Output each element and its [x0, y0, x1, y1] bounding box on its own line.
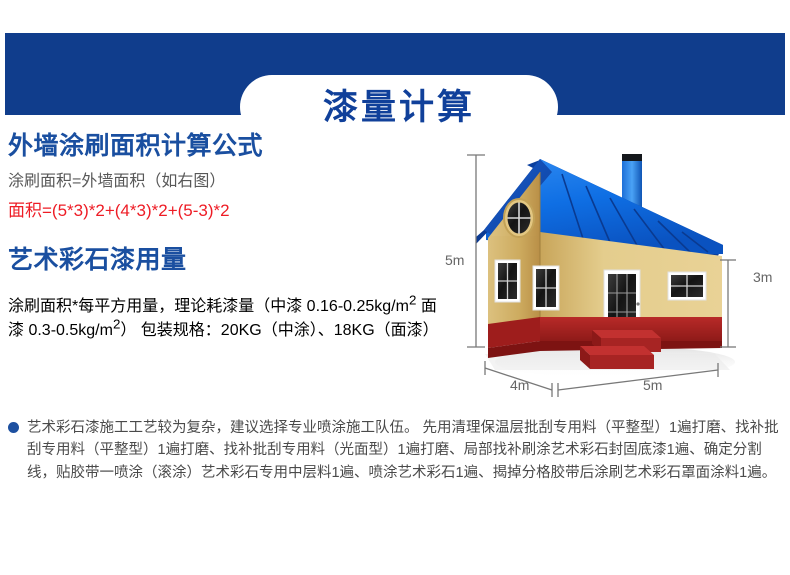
dimension-label-height-right: 3m — [753, 269, 772, 285]
side-window-1 — [495, 260, 520, 302]
usage-bullet-list: 涂刷面积*每平方用量，理论耗漆量（中漆 0.16-0.25kg/m2 面漆 0.… — [8, 292, 448, 340]
front-window — [668, 272, 706, 300]
side-window-2 — [533, 266, 559, 310]
list-item: 艺术彩石漆施工工艺较为复杂，建议选择专业喷涂施工队伍。 先用清理保温层批刮专用料… — [8, 417, 780, 484]
entry-steps — [580, 330, 661, 369]
door-knob-icon — [636, 302, 639, 305]
header-title-pill: 漆量计算 — [240, 75, 558, 139]
page-title: 漆量计算 — [323, 90, 475, 125]
dimension-label-width-side: 4m — [510, 377, 529, 393]
house-illustration: 5m 3m 4m 5m — [440, 132, 790, 412]
process-note: 艺术彩石漆施工工艺较为复杂，建议选择专业喷涂施工队伍。 先用清理保温层批刮专用料… — [8, 417, 780, 498]
formula-section-heading: 外墙涂刷面积计算公式 — [8, 133, 448, 161]
header-banner: 漆量计算 — [5, 33, 785, 115]
usage-section-heading: 艺术彩石漆用量 — [8, 247, 448, 275]
area-formula: 面积=(5*3)*2+(4*3)*2+(5-3)*2 — [8, 202, 448, 221]
dimension-label-height-left: 5m — [445, 252, 464, 268]
formula-subtitle: 涂刷面积=外墙面积（如右图） — [8, 173, 448, 191]
house-diagram-svg — [440, 132, 790, 412]
content-column: 外墙涂刷面积计算公式 涂刷面积=外墙面积（如右图） 面积=(5*3)*2+(4*… — [8, 133, 448, 340]
dimension-label-width-front: 5m — [643, 377, 662, 393]
bullet-dot-icon — [8, 422, 19, 433]
attic-oval-window — [504, 199, 534, 237]
page-root: 漆量计算 外墙涂刷面积计算公式 涂刷面积=外墙面积（如右图） 面积=(5*3)*… — [0, 0, 790, 575]
usage-bullet-3: 艺术彩石漆施工工艺较为复杂，建议选择专业喷涂施工队伍。 先用清理保温层批刮专用料… — [27, 417, 780, 484]
